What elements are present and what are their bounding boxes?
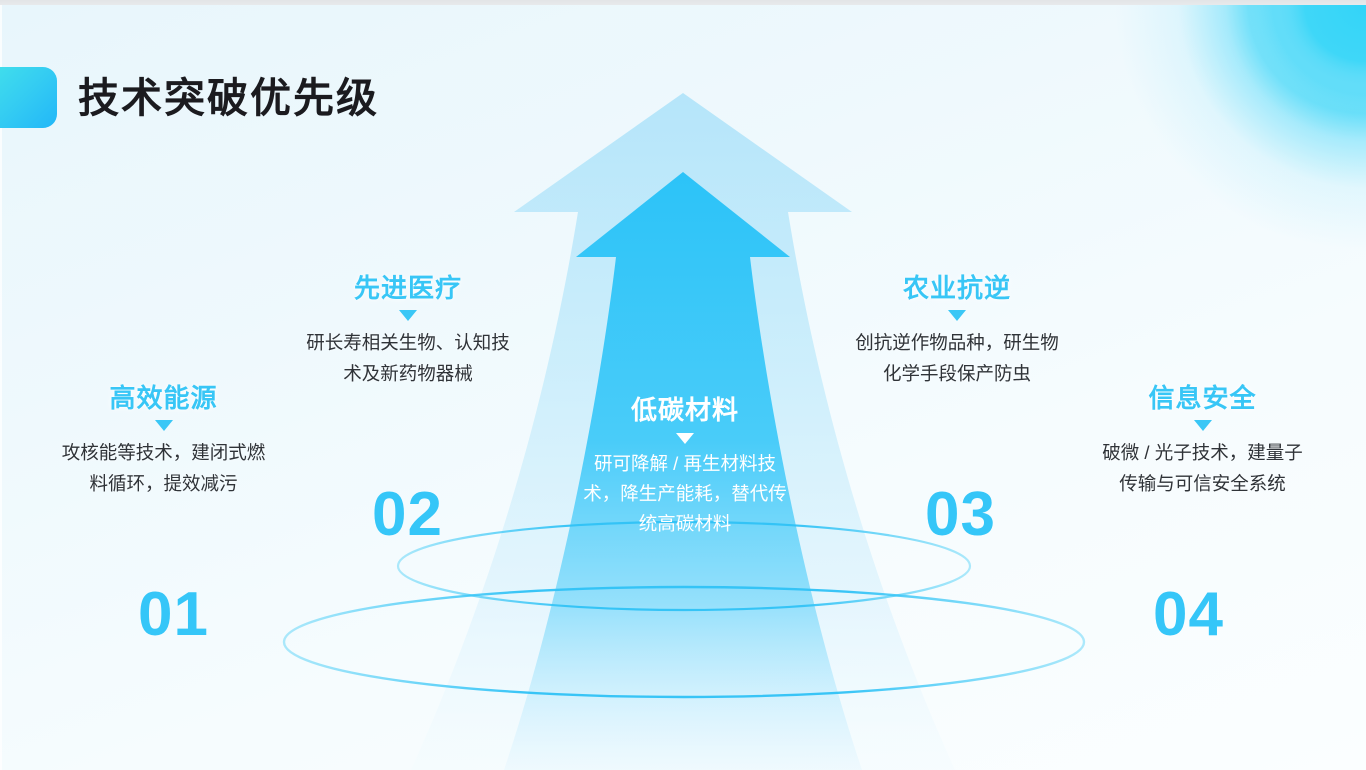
corner-glow-decoration — [1176, 5, 1366, 180]
info-heading-01: 高效能源 — [56, 378, 271, 415]
info-desc-01: 攻核能等技术，建闭式燃料循环，提效减污 — [56, 437, 271, 499]
info-heading-03: 农业抗逆 — [849, 268, 1065, 305]
step-number-04: 04 — [1153, 584, 1224, 646]
step-number-02: 02 — [372, 484, 443, 546]
info-desc-04: 破微 / 光子技术，建量子传输与可信安全系统 — [1095, 437, 1310, 499]
triangle-down-icon — [155, 420, 173, 431]
info-block-02: 先进医疗 研长寿相关生物、认知技术及新药物器械 — [300, 268, 516, 389]
triangle-down-icon — [676, 433, 694, 444]
info-desc-02: 研长寿相关生物、认知技术及新药物器械 — [300, 327, 516, 389]
info-block-center: 低碳材料 研可降解 / 再生材料技术，降生产能耗，替代传统高碳材料 — [577, 390, 793, 539]
page-title: 技术突破优先级 — [78, 68, 379, 128]
slide-canvas: 技术突破优先级 高效能源 攻核能等技术，建闭式燃料循环，提效减污 01 先进医疗… — [0, 0, 1366, 770]
step-number-03: 03 — [925, 484, 996, 546]
info-block-03: 农业抗逆 创抗逆作物品种，研生物化学手段保产防虫 — [849, 268, 1065, 389]
triangle-down-icon — [948, 310, 966, 321]
info-block-01: 高效能源 攻核能等技术，建闭式燃料循环，提效减污 — [56, 378, 271, 499]
info-desc-center: 研可降解 / 再生材料技术，降生产能耗，替代传统高碳材料 — [577, 449, 793, 539]
info-heading-02: 先进医疗 — [300, 268, 516, 305]
title-accent-block — [0, 67, 57, 128]
info-heading-04: 信息安全 — [1095, 378, 1310, 415]
triangle-down-icon — [399, 310, 417, 321]
info-block-04: 信息安全 破微 / 光子技术，建量子传输与可信安全系统 — [1095, 378, 1310, 499]
info-desc-03: 创抗逆作物品种，研生物化学手段保产防虫 — [849, 327, 1065, 389]
triangle-down-icon — [1194, 420, 1212, 431]
step-number-01: 01 — [138, 584, 209, 646]
info-heading-center: 低碳材料 — [577, 390, 793, 427]
